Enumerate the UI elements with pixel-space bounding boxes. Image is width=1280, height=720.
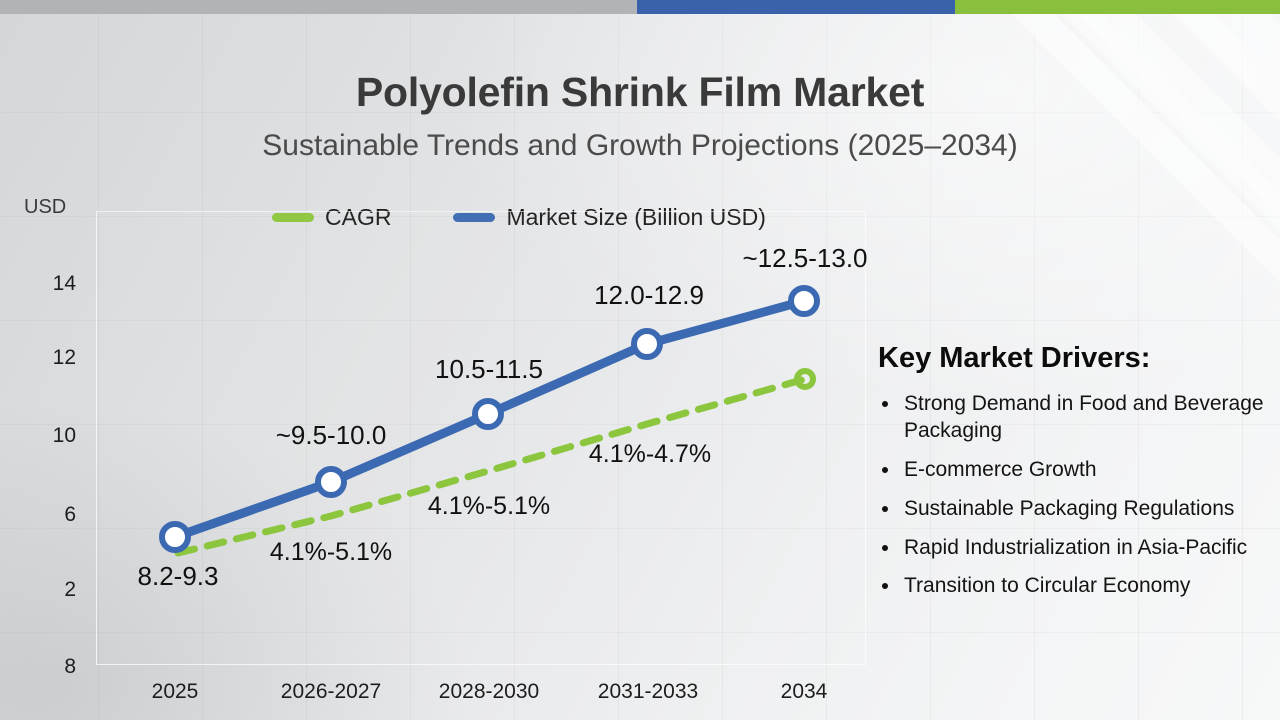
x-tick-2031-2033: 2031-2033: [598, 680, 698, 704]
driver-item-4: Rapid Industrialization in Asia-Pacific: [878, 535, 1278, 562]
driver-item-3: Sustainable Packaging Regulations: [878, 496, 1278, 523]
x-axis: 2025 2026-2027 2028-2030 2031-2033 2034: [0, 680, 1280, 710]
series-point-market-size-2025: [162, 524, 188, 550]
x-tick-2025: 2025: [152, 680, 199, 704]
series-point-market-size-2031-2033: [634, 331, 660, 357]
data-label-market-size-2028-2030: 10.5-11.5: [435, 354, 543, 385]
data-label-cagr-segment-1: 4.1%-5.1%: [270, 538, 392, 567]
data-label-market-size-2025: 8.2-9.3: [138, 561, 219, 592]
series-point-cagr-2034: [797, 371, 813, 387]
data-label-cagr-segment-3: 4.1%-4.7%: [589, 440, 711, 469]
series-point-market-size-2028-2030: [475, 401, 501, 427]
data-label-market-size-2031-2033: 12.0-12.9: [594, 280, 704, 311]
driver-item-1: Strong Demand in Food and Beverage Packa…: [878, 391, 1278, 445]
data-label-market-size-2026-2027: ~9.5-10.0: [276, 420, 387, 451]
key-market-drivers-panel: Key Market Drivers: Strong Demand in Foo…: [878, 344, 1278, 612]
x-tick-2026-2027: 2026-2027: [281, 680, 381, 704]
key-market-drivers-list: Strong Demand in Food and Beverage Packa…: [878, 391, 1278, 600]
series-point-market-size-2026-2027: [318, 469, 344, 495]
x-tick-2028-2030: 2028-2030: [439, 680, 539, 704]
series-point-market-size-2034: [791, 288, 817, 314]
data-label-market-size-2034: ~12.5-13.0: [742, 243, 867, 274]
driver-item-5: Transition to Circular Economy: [878, 573, 1278, 600]
data-label-cagr-segment-2: 4.1%-5.1%: [428, 492, 550, 521]
x-tick-2034: 2034: [781, 680, 828, 704]
key-market-drivers-heading: Key Market Drivers:: [878, 344, 1278, 373]
driver-item-2: E-commerce Growth: [878, 457, 1278, 484]
